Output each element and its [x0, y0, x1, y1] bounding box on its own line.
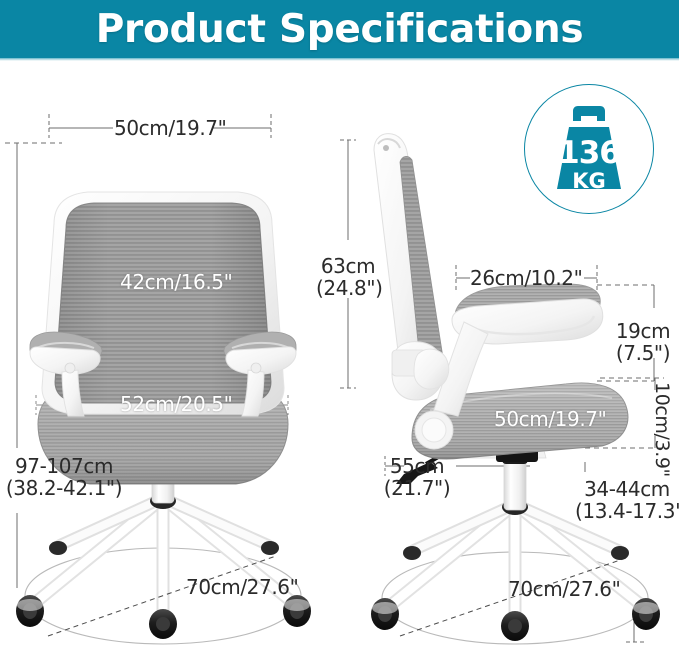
label-side-seat-depth: 50cm/19.7"	[494, 408, 606, 430]
label-side-seat-front-depth-line2: (21.7")	[382, 477, 452, 499]
caster-wheel	[632, 598, 660, 630]
label-side-base-diameter: 70cm/27.6"	[508, 578, 620, 600]
label-side-backrest-height-line2: (24.8")	[316, 277, 380, 299]
caster-wheel	[371, 598, 399, 630]
label-side-armrest-height: 19cm (7.5")	[608, 320, 678, 365]
weight-capacity-badge: 136 KG	[524, 84, 654, 214]
label-side-seat-front-depth-line1: 55cm	[382, 455, 452, 477]
label-side-seat-height-line1: 34-44cm	[575, 478, 679, 500]
label-front-backrest-inner-width: 42cm/16.5"	[120, 271, 232, 293]
label-front-overall-height: 97-107cm (38.2-42.1")	[2, 455, 126, 500]
label-front-base-diameter: 70cm/27.6"	[186, 576, 298, 598]
label-front-overall-height-line1: 97-107cm	[2, 455, 126, 477]
label-front-overall-height-line2: (38.2-42.1")	[2, 477, 126, 499]
label-side-armrest-height-line1: 19cm	[608, 320, 678, 342]
label-front-seat-width: 52cm/20.5"	[120, 393, 232, 415]
label-side-armrest-length: 26cm/10.2"	[470, 267, 582, 289]
label-side-backrest-height-line1: 63cm	[316, 255, 380, 277]
caster-wheel	[283, 595, 311, 627]
label-side-armrest-height-line2: (7.5")	[608, 342, 678, 364]
weight-value: 136	[525, 135, 653, 171]
caster-wheel	[16, 595, 44, 627]
page-title: Product Specifications	[96, 7, 584, 52]
label-side-seat-thickness: 10cm/3.9"	[651, 382, 672, 477]
weight-unit: KG	[525, 169, 653, 193]
label-side-seat-height: 34-44cm (13.4-17.3")	[575, 478, 679, 523]
label-side-seat-height-line2: (13.4-17.3")	[575, 500, 679, 522]
caster-wheel	[149, 609, 177, 639]
label-front-backrest-width: 50cm/19.7"	[114, 117, 226, 139]
caster-wheel	[501, 611, 529, 641]
label-side-backrest-height: 63cm (24.8")	[316, 255, 380, 300]
front-chair-base	[16, 493, 311, 644]
header-banner: Product Specifications	[0, 0, 679, 58]
label-side-seat-front-depth: 55cm (21.7")	[382, 455, 452, 500]
product-specification-infographic: Product Specifications	[0, 0, 679, 656]
